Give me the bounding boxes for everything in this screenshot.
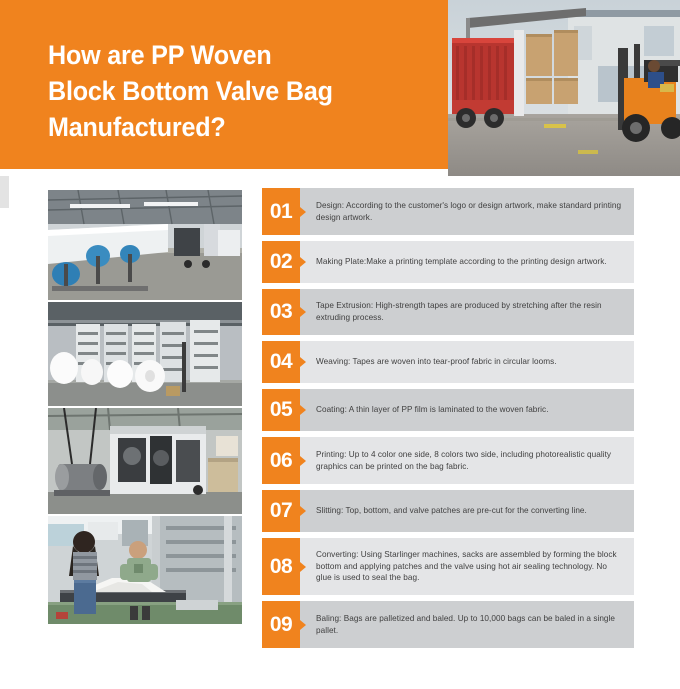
step-row: 05 Coating: A thin layer of PP film is l…: [262, 389, 634, 431]
step-body: Making Plate:Make a printing template ac…: [300, 241, 634, 283]
step-body: Converting: Using Starlinger machines, s…: [300, 538, 634, 595]
step-row: 01 Design: According to the customer's l…: [262, 188, 634, 235]
page-title: How are PP Woven Block Bottom Valve Bag …: [48, 38, 401, 146]
step-text: Coating: A thin layer of PP film is lami…: [316, 404, 549, 416]
photo-printing-machine: [48, 408, 242, 514]
step-text: Making Plate:Make a printing template ac…: [316, 256, 607, 268]
step-number-badge: 05: [262, 389, 300, 431]
header-orange-panel: How are PP Woven Block Bottom Valve Bag …: [0, 0, 448, 169]
step-text: Weaving: Tapes are woven into tear-proof…: [316, 356, 557, 368]
step-body: Weaving: Tapes are woven into tear-proof…: [300, 341, 634, 383]
step-row: 07 Slitting: Top, bottom, and valve patc…: [262, 490, 634, 532]
step-row: 09 Baling: Bags are palletized and baled…: [262, 601, 634, 648]
step-number-badge: 03: [262, 289, 300, 335]
step-row: 08 Converting: Using Starlinger machines…: [262, 538, 634, 595]
step-text: Slitting: Top, bottom, and valve patches…: [316, 505, 587, 517]
header-photo: [448, 0, 680, 176]
page-title-line-2: Block Bottom Valve Bag: [48, 74, 401, 110]
photo-extrusion-line: [48, 190, 242, 300]
step-body: Baling: Bags are palletized and baled. U…: [300, 601, 634, 648]
page-title-line-3: Manufactured?: [48, 110, 401, 146]
page-header: How are PP Woven Block Bottom Valve Bag …: [0, 0, 680, 176]
step-body: Slitting: Top, bottom, and valve patches…: [300, 490, 634, 532]
step-row: 04 Weaving: Tapes are woven into tear-pr…: [262, 341, 634, 383]
page-title-line-1: How are PP Woven: [48, 38, 401, 74]
step-number-badge: 09: [262, 601, 300, 648]
step-text: Design: According to the customer's logo…: [316, 200, 624, 224]
left-accent-strip: [0, 176, 9, 208]
step-number-badge: 01: [262, 188, 300, 235]
step-number-badge: 06: [262, 437, 300, 484]
step-row: 06 Printing: Up to 4 color one side, 8 c…: [262, 437, 634, 484]
step-row: 03 Tape Extrusion: High-strength tapes a…: [262, 289, 634, 335]
photo-weaving-looms: [48, 302, 242, 406]
step-body: Design: According to the customer's logo…: [300, 188, 634, 235]
process-step-list: 01 Design: According to the customer's l…: [262, 188, 634, 654]
step-text: Printing: Up to 4 color one side, 8 colo…: [316, 449, 624, 473]
step-body: Printing: Up to 4 color one side, 8 colo…: [300, 437, 634, 484]
step-number-badge: 04: [262, 341, 300, 383]
photo-converting-workers: [48, 516, 242, 624]
step-number-badge: 02: [262, 241, 300, 283]
step-body: Coating: A thin layer of PP film is lami…: [300, 389, 634, 431]
step-text: Baling: Bags are palletized and baled. U…: [316, 613, 624, 637]
step-text: Tape Extrusion: High-strength tapes are …: [316, 300, 624, 324]
step-row: 02 Making Plate:Make a printing template…: [262, 241, 634, 283]
process-photo-column: [48, 190, 242, 634]
step-text: Converting: Using Starlinger machines, s…: [316, 549, 624, 585]
step-body: Tape Extrusion: High-strength tapes are …: [300, 289, 634, 335]
step-number-badge: 07: [262, 490, 300, 532]
step-number-badge: 08: [262, 538, 300, 595]
